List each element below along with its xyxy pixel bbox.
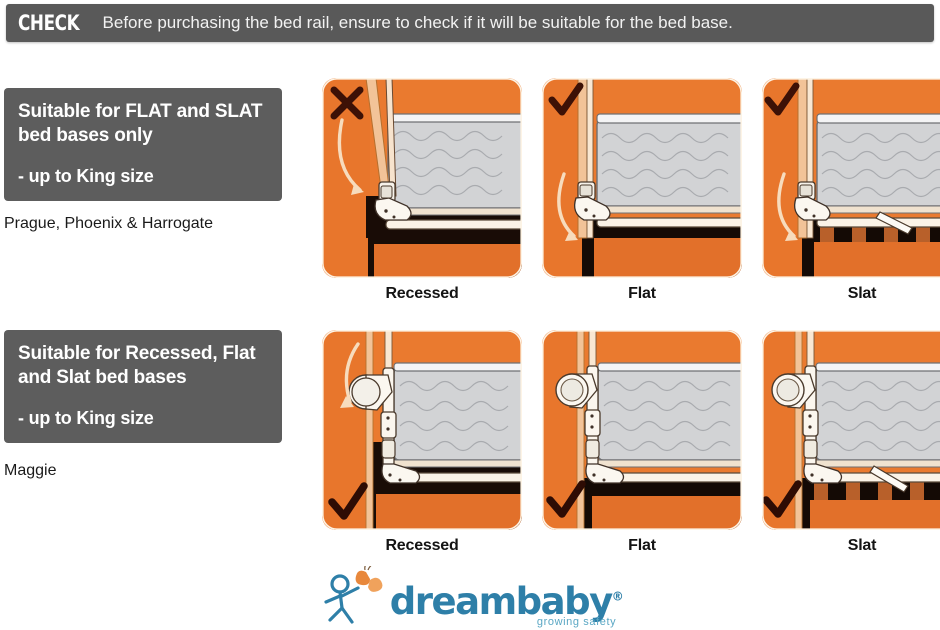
info-box-subtitle: - up to King size [18,166,268,187]
info-box-title: Suitable for FLAT and SLAT bed bases onl… [18,100,268,148]
panel-flatslat-slat: Slat [762,78,940,303]
registered-mark: ® [612,590,623,604]
models-list-flat-slat: Prague, Phoenix & Harrogate [4,215,213,233]
panel-label: Flat [542,285,742,303]
panel-image [322,78,522,278]
panel-label: Slat [762,537,940,555]
panel-maggie-flat: Flat [542,330,742,555]
panel-image [542,78,742,278]
illustration-recessed-cross [322,78,522,278]
info-box-recessed-flat-slat: Suitable for Recessed, Flat and Slat bed… [4,330,282,443]
infographic-page: CHECK Before purchasing the bed rail, en… [0,0,940,630]
panel-image [762,330,940,530]
left-info-column: Suitable for FLAT and SLAT bed bases onl… [0,0,310,630]
panel-label: Recessed [322,285,522,303]
illustration-slat-swing-tick [762,330,940,530]
brand-logo: dreambaby® growing safety [0,566,940,628]
illustration-flat-tick [542,78,742,278]
panel-label: Slat [762,285,940,303]
dreambaby-figure-icon [318,566,388,628]
info-box-flat-slat: Suitable for FLAT and SLAT bed bases onl… [4,88,282,201]
panel-flatslat-recessed: Recessed [322,78,522,303]
logo-wordmark: dreambaby® [390,584,622,619]
illustration-flat-swing-tick [542,330,742,530]
panel-maggie-recessed: Recessed [322,330,522,555]
butterfly-icon [355,566,382,592]
illustration-slat-tick [762,78,940,278]
panel-flatslat-flat: Flat [542,78,742,303]
panel-image [762,78,940,278]
child-figure-icon [326,576,358,622]
info-box-title: Suitable for Recessed, Flat and Slat bed… [18,342,268,390]
panel-label: Recessed [322,537,522,555]
illustration-recessed-swing-tick [322,330,522,530]
panel-image [322,330,522,530]
panel-label: Flat [542,537,742,555]
models-list-recessed-flat-slat: Maggie [4,462,56,480]
panel-maggie-slat: Slat [762,330,940,555]
panel-image [542,330,742,530]
info-box-subtitle: - up to King size [18,408,268,429]
